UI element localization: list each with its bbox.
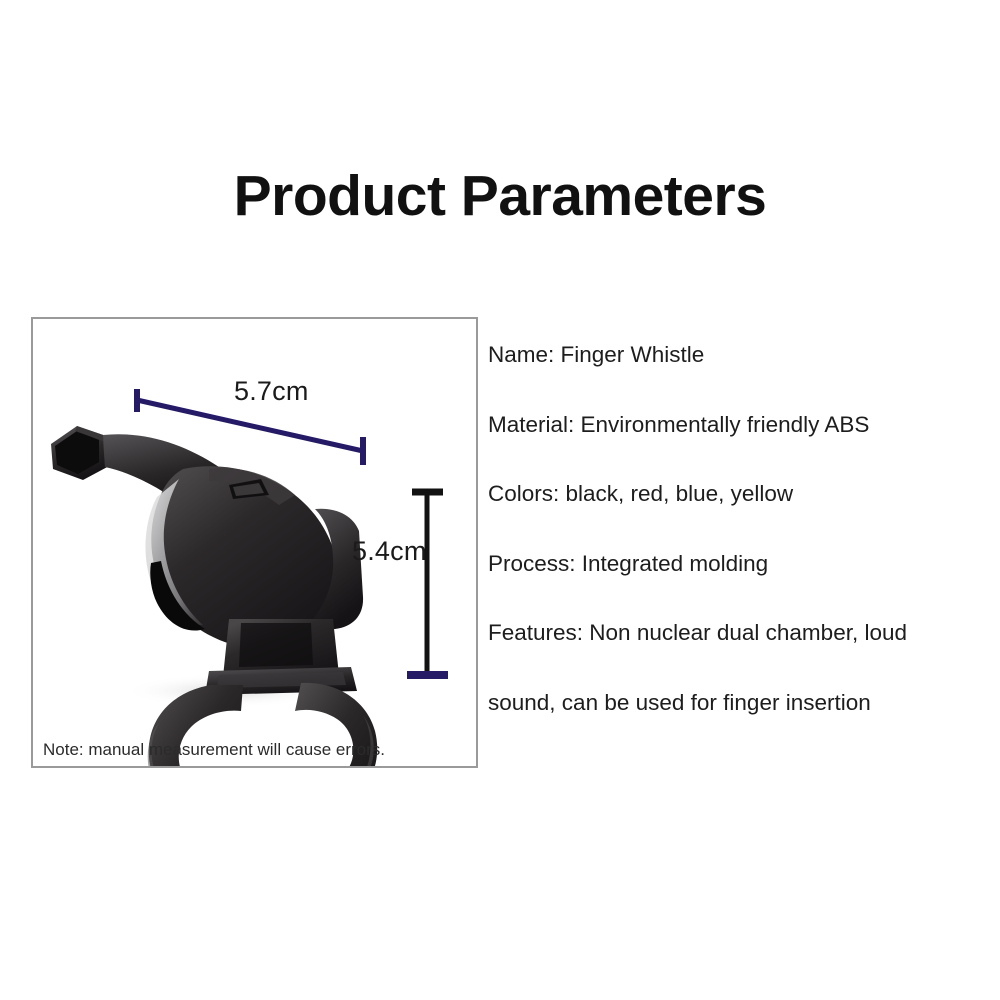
spec-line-colors: Colors: black, red, blue, yellow bbox=[488, 483, 958, 506]
spec-line-name: Name: Finger Whistle bbox=[488, 344, 958, 367]
spec-line-material: Material: Environmentally friendly ABS bbox=[488, 414, 958, 437]
spec-line-features: Features: Non nuclear dual chamber, loud bbox=[488, 622, 958, 645]
measurement-note: Note: manual measurement will cause erro… bbox=[43, 740, 385, 760]
spec-line-features-continued: sound, can be used for finger insertion bbox=[488, 692, 958, 715]
dimension-label-width: 5.7cm bbox=[234, 376, 309, 407]
spec-list: Name: Finger Whistle Material: Environme… bbox=[488, 344, 958, 714]
page-title: Product Parameters bbox=[0, 168, 1000, 225]
spec-line-process: Process: Integrated molding bbox=[488, 553, 958, 576]
dimension-label-height: 5.4cm bbox=[352, 536, 427, 567]
